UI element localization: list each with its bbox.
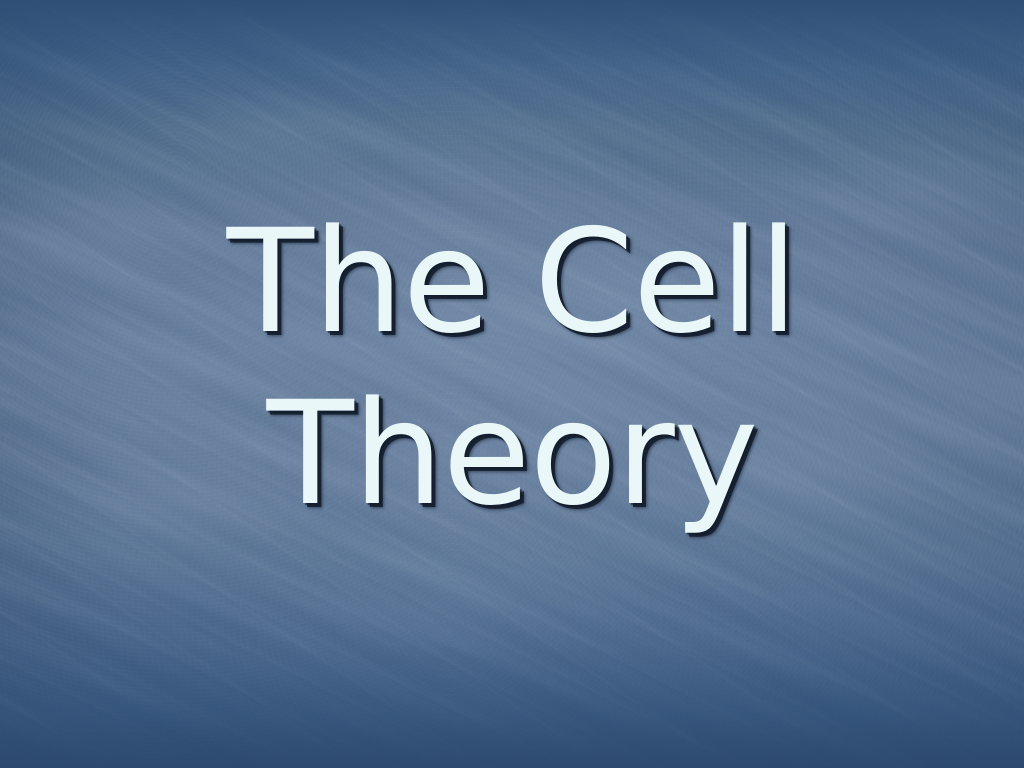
presentation-slide: The Cell Theory (0, 0, 1024, 768)
slide-title: The Cell Theory (0, 196, 1024, 540)
slide-title-line-2: Theory (0, 368, 1024, 540)
slide-title-line-1: The Cell (0, 196, 1024, 368)
